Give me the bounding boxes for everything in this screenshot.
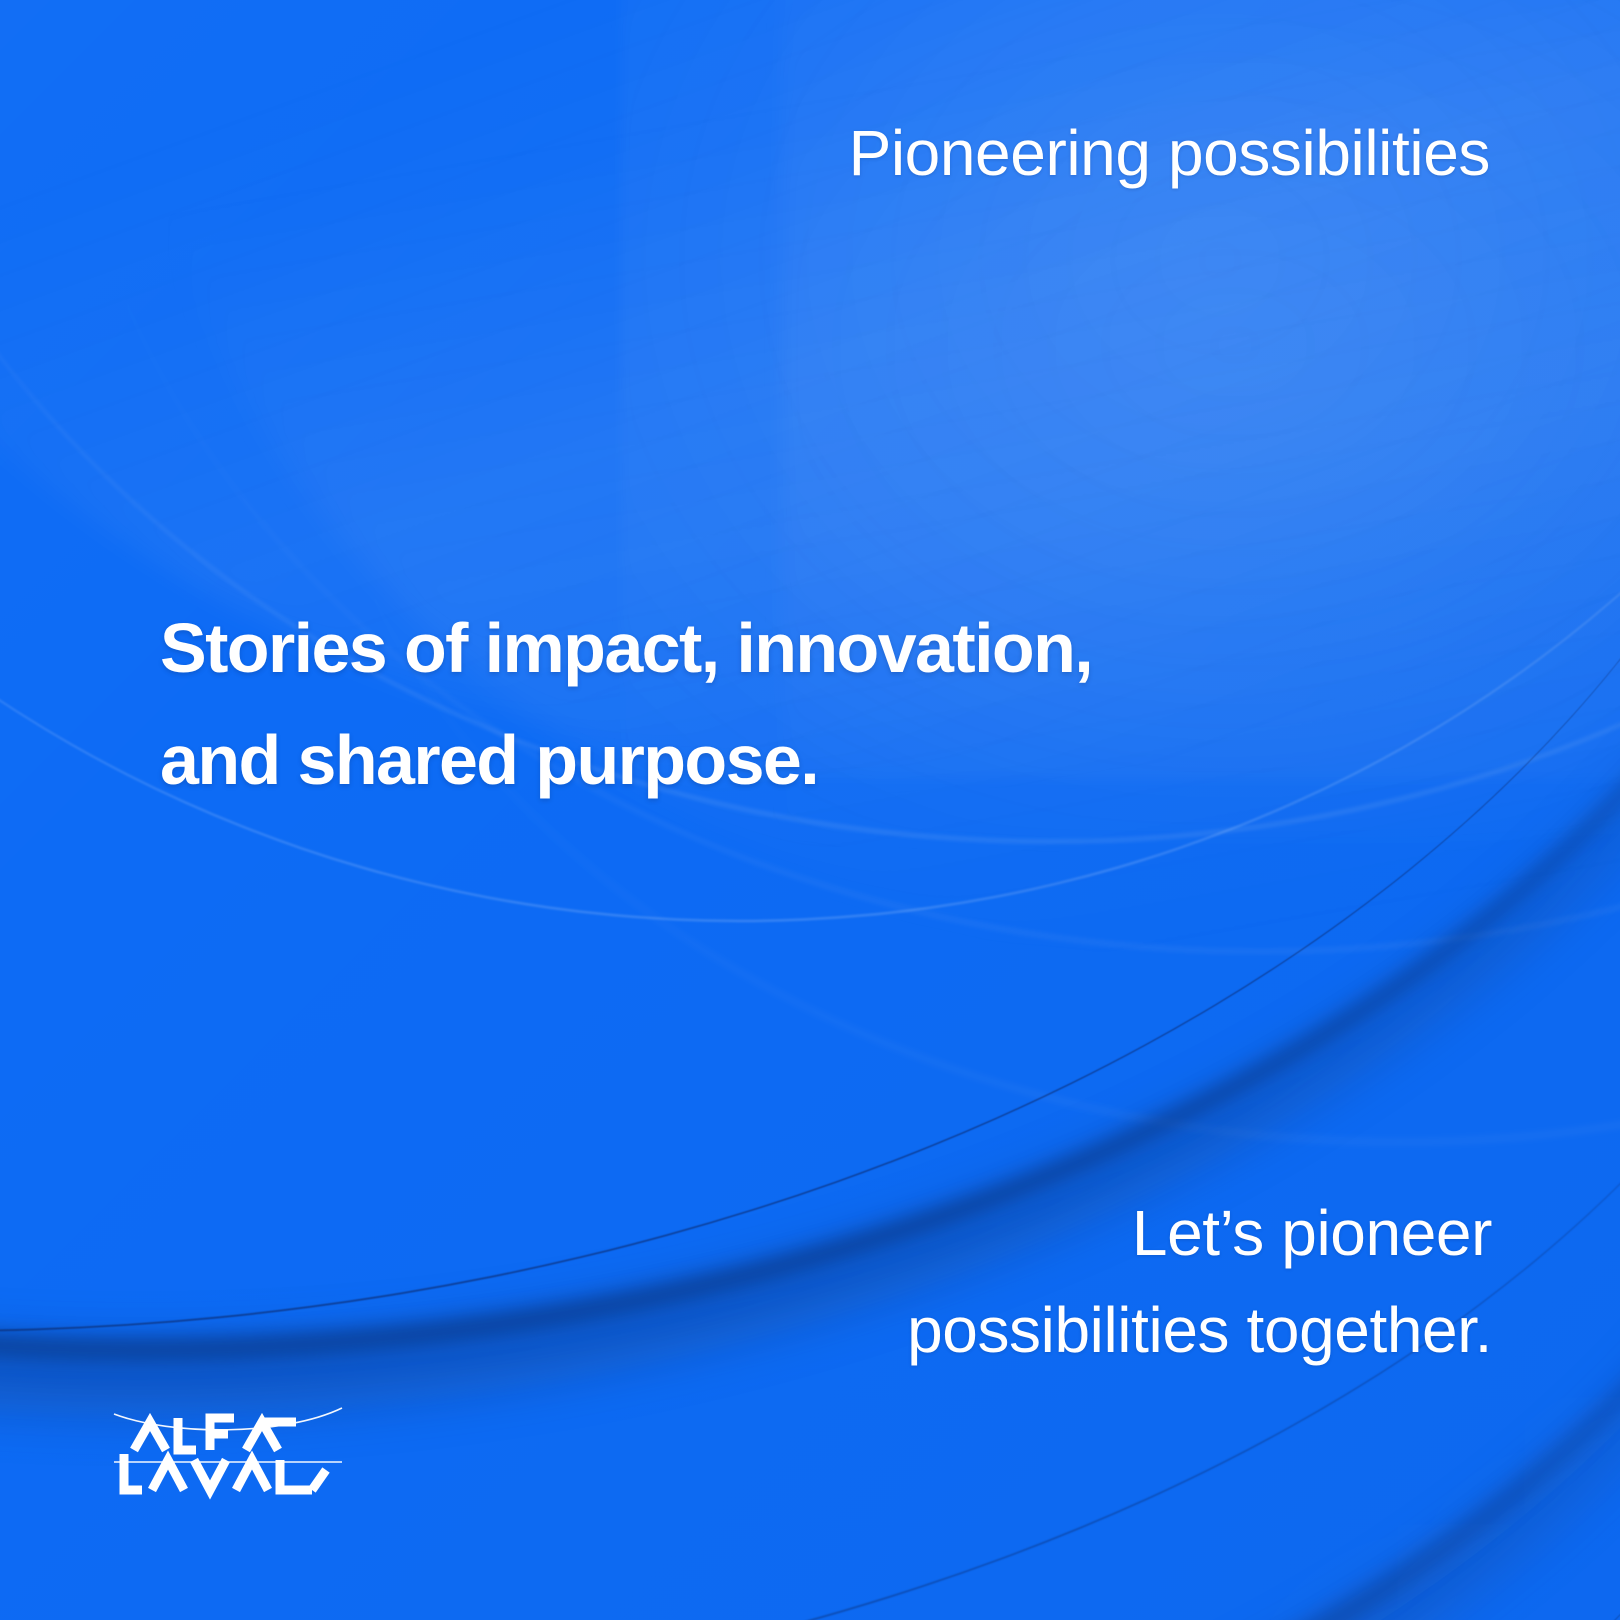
headline-line-2: and shared purpose. [160, 704, 1092, 816]
background-shadow-band-3-core [0, 76, 1620, 1620]
headline-line-1: Stories of impact, innovation, [160, 592, 1092, 704]
alfa-laval-logo [112, 1392, 344, 1510]
closing-statement: Let’s pioneer possibilities together. [907, 1185, 1492, 1380]
promo-card: Pioneering possibilities Stories of impa… [0, 0, 1620, 1620]
background-shadow-band-3 [0, 90, 1620, 1620]
closing-line-2: possibilities together. [907, 1282, 1492, 1379]
closing-line-1: Let’s pioneer [907, 1185, 1492, 1282]
alfa-laval-wave-logo-icon [112, 1392, 344, 1510]
eyebrow-text: Pioneering possibilities [849, 118, 1490, 190]
page-title: Stories of impact, innovation, and share… [160, 592, 1092, 816]
